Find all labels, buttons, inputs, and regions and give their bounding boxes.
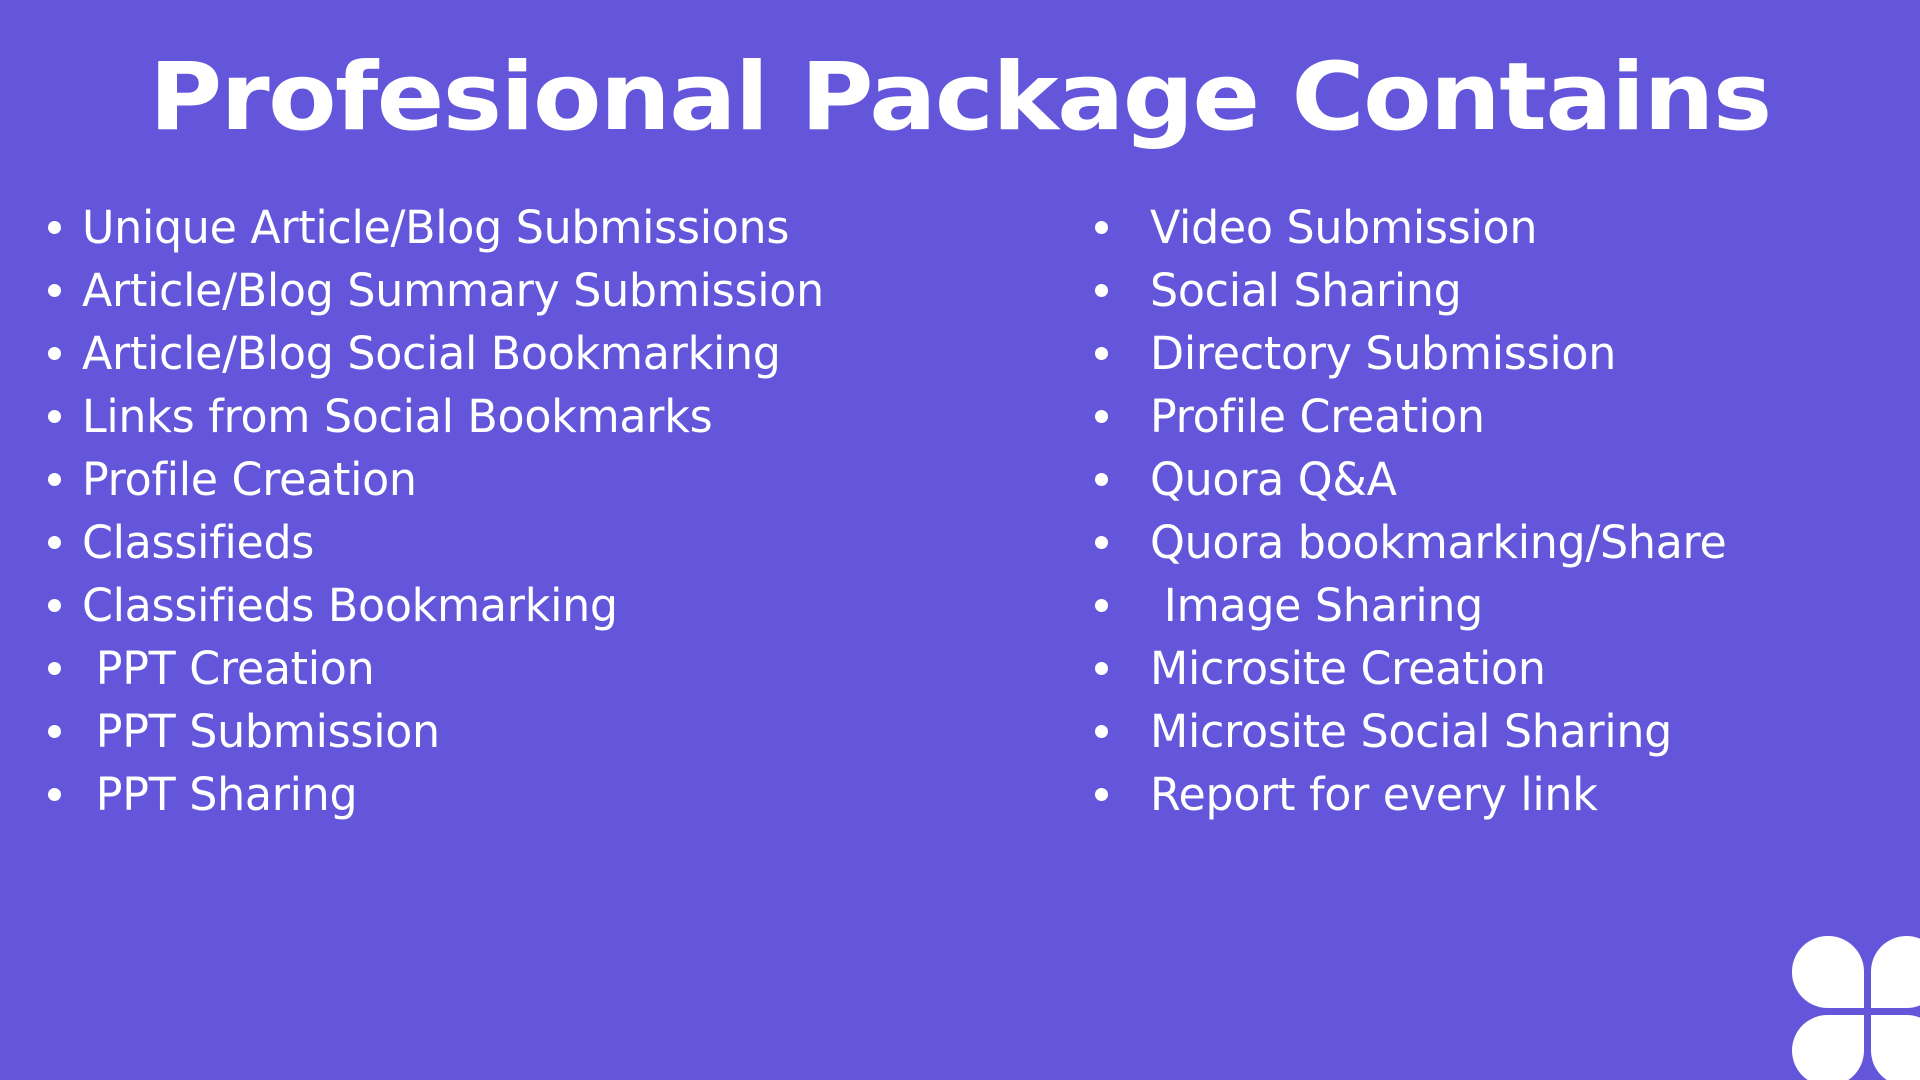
- list-item-label: Profile Creation: [82, 457, 417, 502]
- list-item-label: PPT Sharing: [82, 772, 357, 817]
- bullet-dot-icon: [48, 788, 61, 801]
- bullet-dot-icon: [48, 536, 61, 549]
- list-item: Directory Submission: [1078, 322, 1920, 385]
- list-item: Report for every link: [1078, 763, 1920, 826]
- list-item: PPT Creation: [30, 637, 1060, 700]
- list-item-label: Profile Creation: [1150, 394, 1485, 439]
- list-item-label: Microsite Creation: [1150, 646, 1546, 691]
- list-item: Social Sharing: [1078, 259, 1920, 322]
- list-item: Links from Social Bookmarks: [30, 385, 1060, 448]
- list-item-label: Directory Submission: [1150, 331, 1616, 376]
- list-item-label: Article/Blog Summary Submission: [82, 268, 824, 313]
- list-item-label: Unique Article/Blog Submissions: [82, 205, 789, 250]
- bullet-dot-icon: [1095, 662, 1108, 675]
- list-item-label: PPT Creation: [82, 646, 374, 691]
- title-container: Profesional Package Contains: [0, 0, 1920, 196]
- list-item-label: Classifieds Bookmarking: [82, 583, 618, 628]
- list-item: Article/Blog Summary Submission: [30, 259, 1060, 322]
- list-item: Classifieds: [30, 511, 1060, 574]
- list-item: Profile Creation: [1078, 385, 1920, 448]
- feature-list-right: Video Submission Social Sharing Director…: [1078, 196, 1920, 826]
- list-item: Video Submission: [1078, 196, 1920, 259]
- bullet-dot-icon: [48, 410, 61, 423]
- bullet-dot-icon: [48, 662, 61, 675]
- feature-column-left: Unique Article/Blog Submissions Article/…: [30, 196, 1060, 826]
- bullet-dot-icon: [1095, 473, 1108, 486]
- bullet-dot-icon: [48, 473, 61, 486]
- slide-canvas: Profesional Package Contains Unique Arti…: [0, 0, 1920, 1080]
- list-item-label: Quora Q&A: [1150, 457, 1397, 502]
- bullet-dot-icon: [48, 599, 61, 612]
- list-item-label: Image Sharing: [1150, 583, 1483, 628]
- list-item-label: Social Sharing: [1150, 268, 1462, 313]
- list-item-label: Links from Social Bookmarks: [82, 394, 712, 439]
- content-columns: Unique Article/Blog Submissions Article/…: [0, 196, 1920, 1080]
- list-item-label: Report for every link: [1150, 772, 1598, 817]
- bullet-dot-icon: [48, 221, 61, 234]
- bullet-dot-icon: [1095, 788, 1108, 801]
- list-item: Microsite Creation: [1078, 637, 1920, 700]
- list-item: Quora bookmarking/Share: [1078, 511, 1920, 574]
- list-item: Classifieds Bookmarking: [30, 574, 1060, 637]
- list-item: Microsite Social Sharing: [1078, 700, 1920, 763]
- page-title: Profesional Package Contains: [149, 51, 1770, 145]
- bullet-dot-icon: [1095, 347, 1108, 360]
- list-item-label: PPT Submission: [82, 709, 440, 754]
- bullet-dot-icon: [48, 725, 61, 738]
- bullet-dot-icon: [1095, 284, 1108, 297]
- feature-column-right: Video Submission Social Sharing Director…: [1078, 196, 1920, 826]
- bullet-dot-icon: [1095, 599, 1108, 612]
- list-item: PPT Submission: [30, 700, 1060, 763]
- bullet-dot-icon: [1095, 536, 1108, 549]
- list-item: Profile Creation: [30, 448, 1060, 511]
- bullet-dot-icon: [48, 347, 61, 360]
- bullet-dot-icon: [1095, 725, 1108, 738]
- list-item-label: Quora bookmarking/Share: [1150, 520, 1726, 565]
- feature-list-left: Unique Article/Blog Submissions Article/…: [30, 196, 1060, 826]
- bullet-dot-icon: [1095, 410, 1108, 423]
- list-item-label: Classifieds: [82, 520, 314, 565]
- list-item: Quora Q&A: [1078, 448, 1920, 511]
- list-item: Article/Blog Social Bookmarking: [30, 322, 1060, 385]
- bullet-dot-icon: [1095, 221, 1108, 234]
- list-item-label: Video Submission: [1150, 205, 1537, 250]
- bullet-dot-icon: [48, 284, 61, 297]
- list-item-label: Microsite Social Sharing: [1150, 709, 1672, 754]
- list-item: PPT Sharing: [30, 763, 1060, 826]
- list-item: Unique Article/Blog Submissions: [30, 196, 1060, 259]
- list-item: Image Sharing: [1078, 574, 1920, 637]
- list-item-label: Article/Blog Social Bookmarking: [82, 331, 781, 376]
